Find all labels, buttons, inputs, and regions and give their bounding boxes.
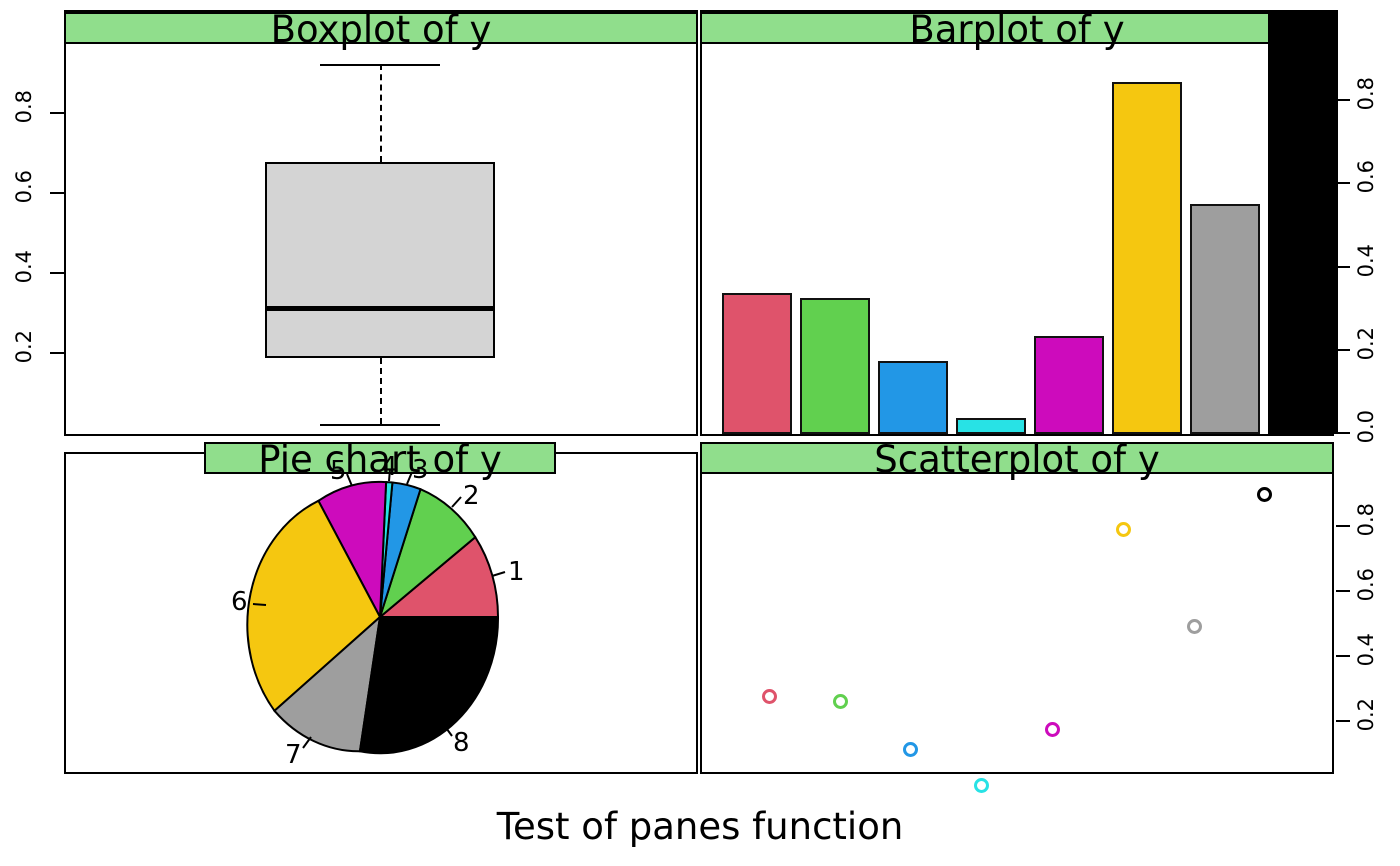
scatter-point-5 (1045, 722, 1060, 737)
barplot-ytick-0.6 (1336, 182, 1350, 184)
boxplot-ylabel-0.4: 0.4 (12, 250, 36, 283)
boxplot-ylabel-0.6: 0.6 (12, 170, 36, 203)
pie-label-1: 1 (508, 557, 525, 587)
pie-label-8: 8 (453, 728, 470, 758)
boxplot-ytick-0.8 (50, 112, 64, 114)
pie-tick-1 (492, 572, 505, 576)
scatter-point-3 (903, 742, 918, 757)
pie-tick-2 (452, 497, 461, 507)
bar-6 (1112, 82, 1182, 434)
pie-label-3: 3 (412, 455, 429, 485)
boxplot-ytick-0.6 (50, 192, 64, 194)
pie-label-7: 7 (285, 740, 302, 770)
boxplot-ytick-0.2 (50, 352, 64, 354)
boxplot-ylabel-0.2: 0.2 (12, 330, 36, 363)
pie-slices (247, 482, 498, 753)
scatterplot-ylabel-0.8: 0.8 (1354, 503, 1378, 536)
barplot-ytick-0.8 (1336, 99, 1350, 101)
figure-bottom-title: Test of panes function (0, 805, 1400, 848)
scatter-point-6 (1116, 522, 1131, 537)
scatterplot-ylabel-0.2: 0.2 (1354, 698, 1378, 731)
pie-tick-5 (347, 474, 352, 486)
barplot-ylabel-0.8: 0.8 (1354, 77, 1378, 110)
barplot-ylabel-0.4: 0.4 (1354, 244, 1378, 277)
scatter-point-7 (1187, 619, 1202, 634)
barplot-ylabel-0.6: 0.6 (1354, 160, 1378, 193)
boxplot-lower-whisker (380, 358, 382, 424)
bar-7 (1190, 204, 1260, 434)
pie-tick-6 (253, 604, 266, 605)
barplot-ytick-0.2 (1336, 349, 1350, 351)
panel-boxplot: Boxplot of y 0.2 0.4 0.6 0.8 (0, 0, 700, 440)
pie-label-6: 6 (231, 587, 248, 617)
barplot-title-banner: Barplot of y (700, 12, 1334, 44)
barplot-ytick-0.4 (1336, 266, 1350, 268)
barplot-title: Barplot of y (909, 11, 1124, 48)
boxplot-ytick-0.4 (50, 272, 64, 274)
panel-barplot: Barplot of y 0.0 0.2 0.4 0.6 0.8 (700, 0, 1400, 440)
scatterplot-ylabel-0.4: 0.4 (1354, 633, 1378, 666)
scatter-point-4 (974, 778, 989, 793)
pie-label-4: 4 (381, 452, 398, 482)
bar-3 (878, 361, 948, 434)
scatterplot-ytick-0.8 (1336, 525, 1350, 527)
boxplot-upper-whisker (380, 64, 382, 162)
scatter-point-1 (762, 689, 777, 704)
scatterplot-ytick-0.6 (1336, 590, 1350, 592)
boxplot-title-banner: Boxplot of y (64, 12, 698, 44)
scatter-point-8 (1257, 487, 1272, 502)
pie-label-2: 2 (463, 481, 480, 511)
scatterplot-title-banner: Scatterplot of y (700, 442, 1334, 474)
bar-2 (800, 298, 870, 434)
scatter-point-2 (833, 694, 848, 709)
boxplot-median-line (265, 306, 495, 311)
scatterplot-plot-area (700, 452, 1334, 774)
barplot-ytick-0.0 (1336, 432, 1350, 434)
bar-5 (1034, 336, 1104, 434)
pie-svg (0, 440, 700, 780)
pie-slice-8 (360, 617, 498, 753)
boxplot-ylabel-0.8: 0.8 (12, 90, 36, 123)
bar-4 (956, 418, 1026, 434)
boxplot-lower-whisker-cap (320, 424, 440, 426)
panel-scatterplot: Scatterplot of y 0.2 0.4 0.6 0.8 (700, 440, 1400, 780)
scatterplot-ytick-0.2 (1336, 720, 1350, 722)
boxplot-box (265, 162, 495, 358)
panel-piechart: Pie chart of y (0, 440, 700, 780)
figure-canvas: Boxplot of y 0.2 0.4 0.6 0.8 Barplot of … (0, 0, 1400, 866)
bar-1 (722, 293, 792, 434)
scatterplot-ylabel-0.6: 0.6 (1354, 568, 1378, 601)
scatterplot-ytick-0.4 (1336, 655, 1350, 657)
barplot-ylabel-0.2: 0.2 (1354, 327, 1378, 360)
barplot-ylabel-0.0: 0.0 (1354, 410, 1378, 443)
boxplot-title: Boxplot of y (271, 11, 492, 48)
scatterplot-title: Scatterplot of y (874, 441, 1160, 478)
bar-8 (1268, 10, 1338, 434)
pie-label-5: 5 (330, 456, 347, 486)
